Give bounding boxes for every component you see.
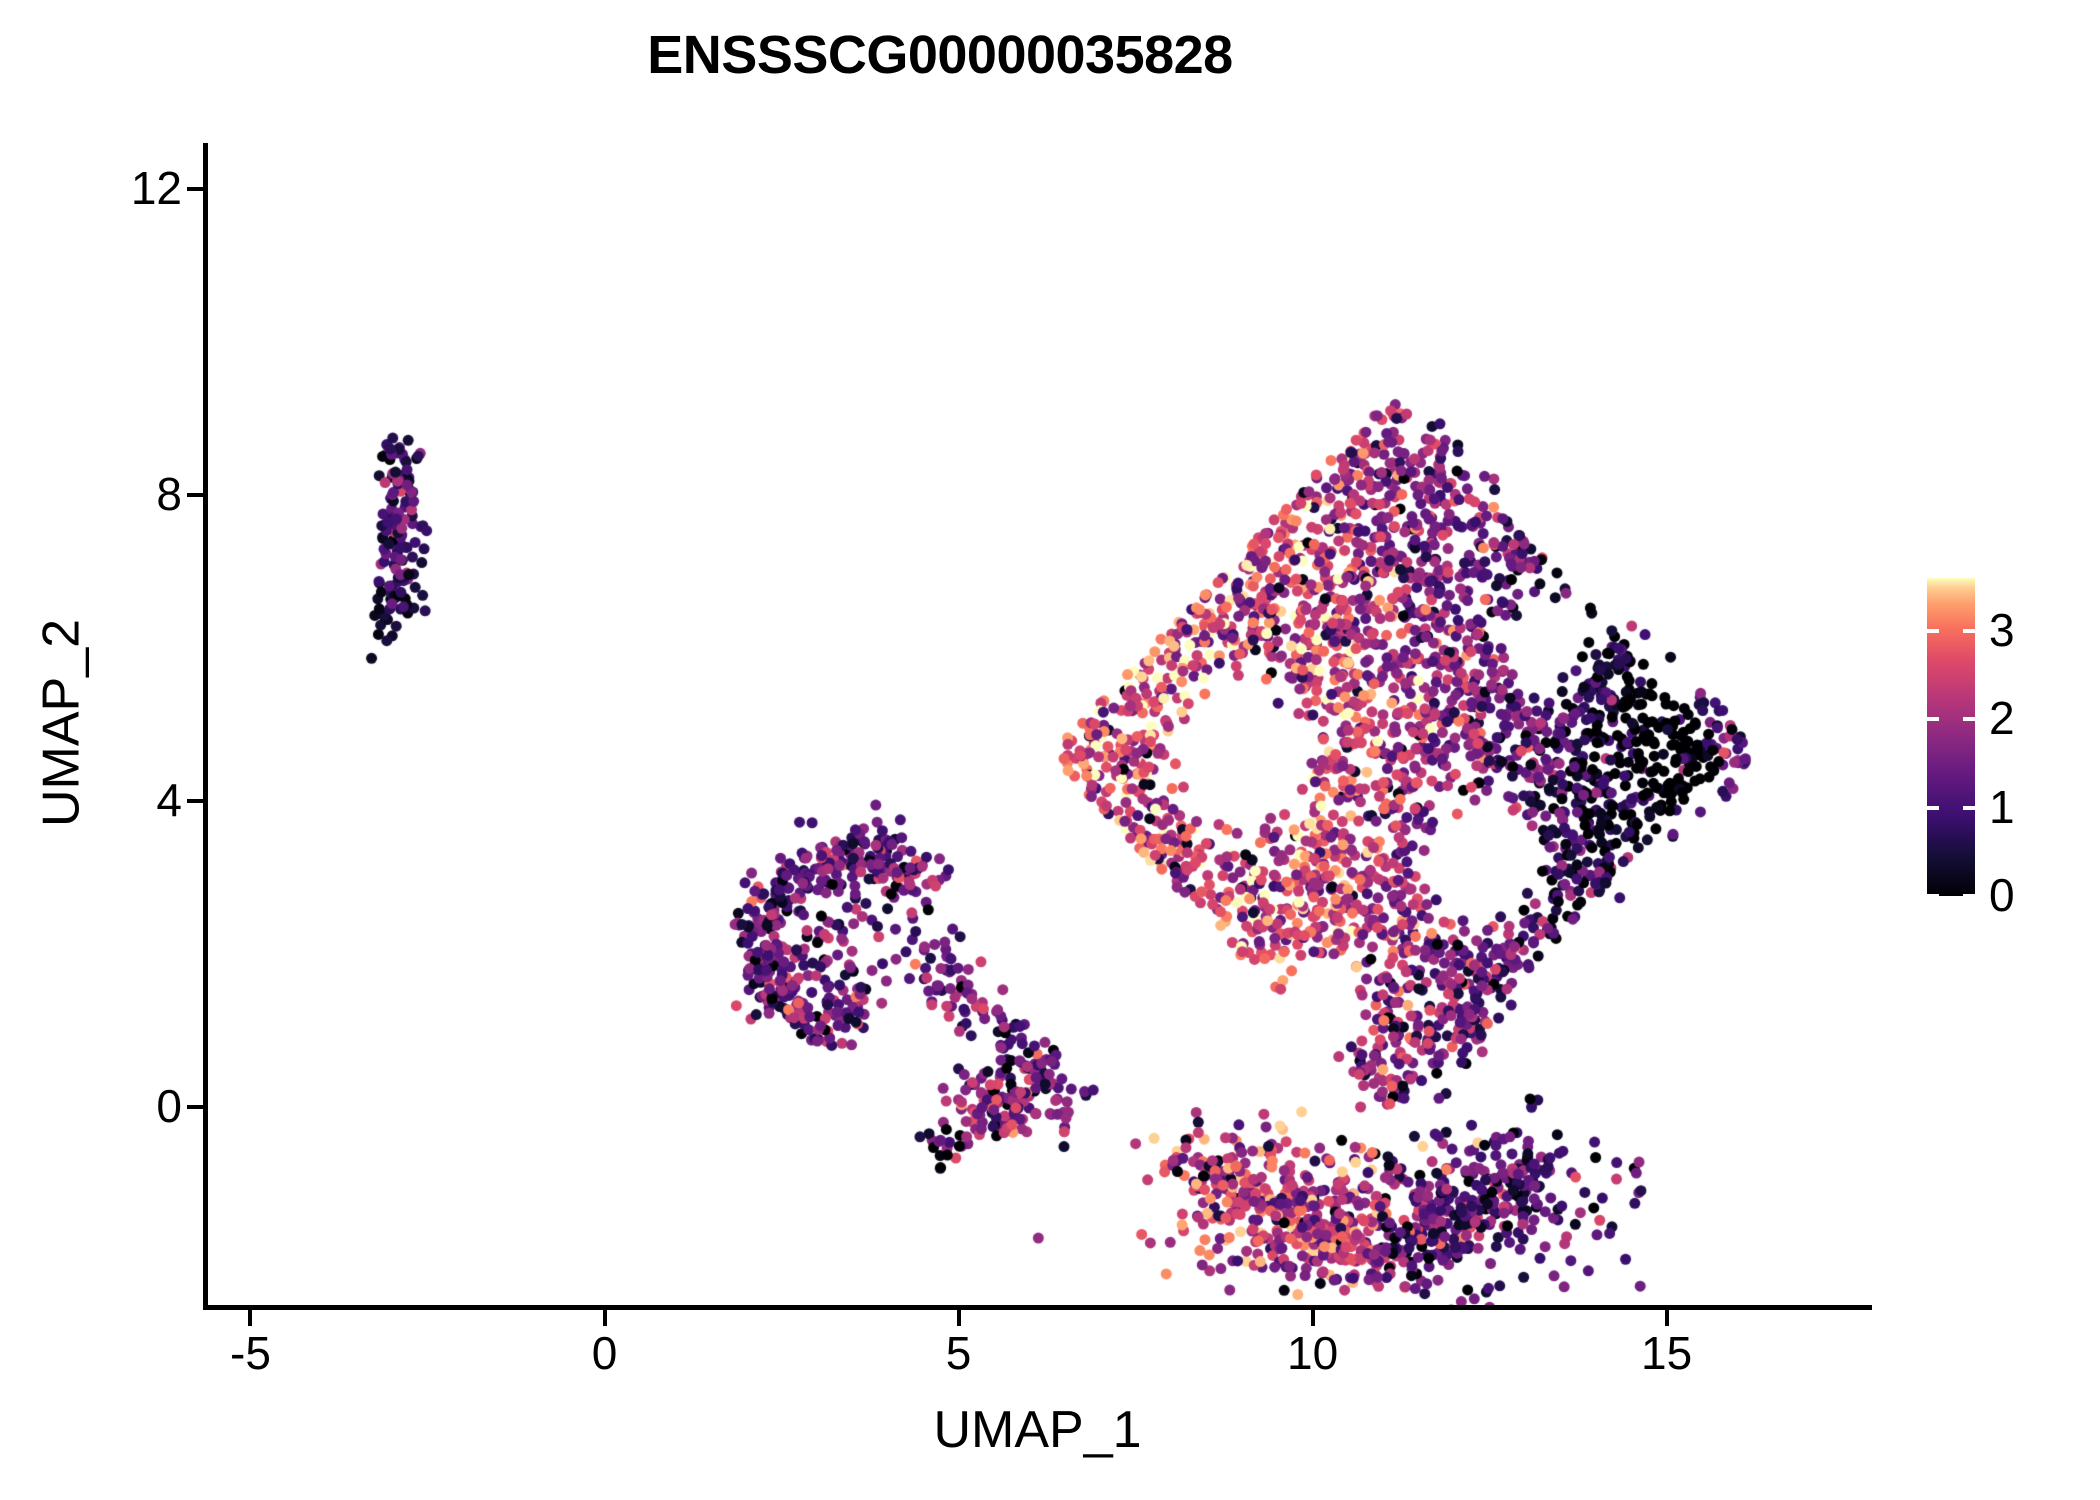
page-title: ENSSSCG00000035828 bbox=[0, 24, 1880, 86]
colorbar-tick-label: 0 bbox=[1989, 872, 2015, 918]
y-tick-mark bbox=[187, 187, 203, 191]
colorbar-tick-label: 2 bbox=[1989, 695, 2015, 741]
x-tick-mark bbox=[248, 1310, 252, 1326]
colorbar-legend: 3210 bbox=[1927, 578, 2097, 898]
umap-feature-plot: ENSSSCG00000035828 12840 -5051015 UMAP_1… bbox=[0, 0, 2100, 1500]
x-tick-label: 0 bbox=[525, 1330, 685, 1376]
plot-panel bbox=[208, 143, 1872, 1306]
y-tick-mark bbox=[187, 493, 203, 497]
y-tick-label: 4 bbox=[156, 777, 182, 823]
colorbar-tick-label: 1 bbox=[1989, 784, 2015, 830]
x-tick-label: 15 bbox=[1587, 1330, 1747, 1376]
x-tick-mark bbox=[1311, 1310, 1315, 1326]
y-tick-label: 8 bbox=[156, 471, 182, 517]
y-tick-mark bbox=[187, 799, 203, 803]
x-tick-mark bbox=[957, 1310, 961, 1326]
colorbar-tick-mark bbox=[1927, 717, 1975, 721]
x-tick-label: 10 bbox=[1233, 1330, 1393, 1376]
colorbar-tick-label: 3 bbox=[1989, 607, 2015, 653]
x-axis-title: UMAP_1 bbox=[203, 1400, 1872, 1460]
scatter-points-layer bbox=[208, 143, 1872, 1306]
y-tick-label: 12 bbox=[131, 165, 182, 211]
x-tick-label: -5 bbox=[170, 1330, 330, 1376]
x-axis-line bbox=[203, 1305, 1872, 1310]
x-tick-mark bbox=[1665, 1310, 1669, 1326]
colorbar-gradient bbox=[1927, 578, 1975, 896]
colorbar-tick-mark bbox=[1927, 806, 1975, 810]
y-axis-line bbox=[203, 143, 208, 1309]
colorbar-tick-mark bbox=[1927, 894, 1975, 898]
colorbar-tick-mark bbox=[1927, 629, 1975, 633]
y-tick-mark bbox=[187, 1105, 203, 1109]
x-tick-mark bbox=[603, 1310, 607, 1326]
x-tick-label: 5 bbox=[879, 1330, 1039, 1376]
y-axis-title: UMAP_2 bbox=[32, 142, 92, 1305]
y-tick-label: 0 bbox=[156, 1083, 182, 1129]
